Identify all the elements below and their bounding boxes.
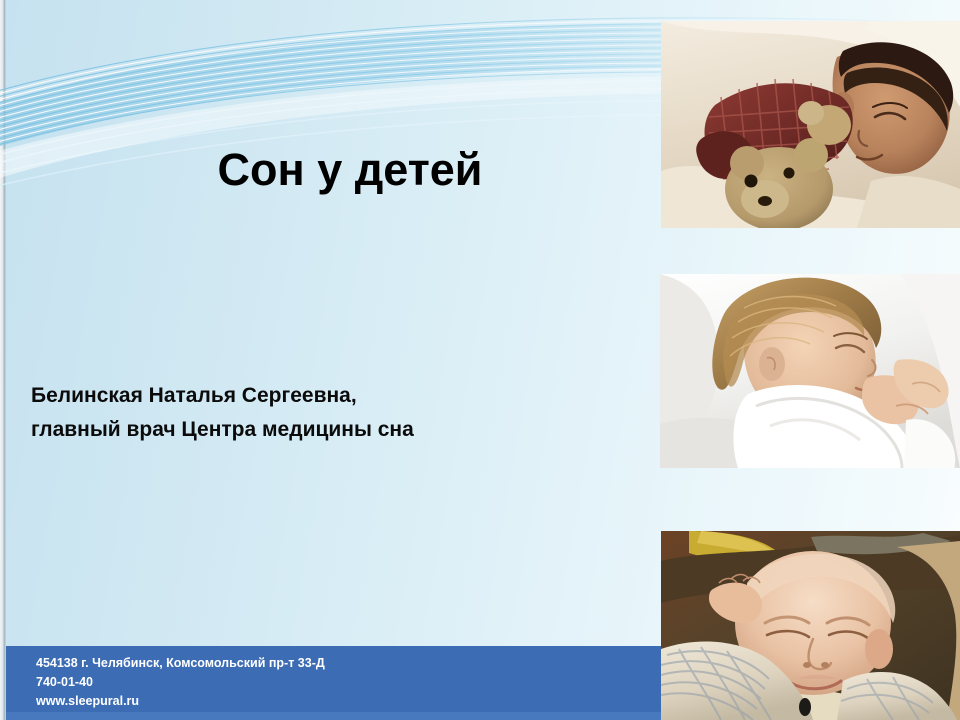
footer-address: 454138 г. Челябинск, Комсомольский пр-т … — [36, 654, 325, 673]
photo-sleeping-child-white-shirt — [660, 274, 960, 468]
footer-contact-block: 454138 г. Челябинск, Комсомольский пр-т … — [36, 654, 325, 711]
footer-website[interactable]: www.sleepural.ru — [36, 692, 325, 711]
footer-phone: 740-01-40 — [36, 673, 325, 692]
slide-left-edge-strip — [0, 0, 6, 720]
photo-sleeping-newborn-baby — [661, 531, 960, 720]
subtitle-line-2: главный врач Центра медицины сна — [31, 413, 631, 447]
subtitle-line-1: Белинская Наталья Сергеевна, — [31, 379, 631, 413]
slide-title: Сон у детей — [60, 144, 640, 196]
photo-sleeping-boy-with-teddy-bear — [661, 21, 960, 228]
presentation-slide: Сон у детей Белинская Наталья Сергеевна,… — [0, 0, 960, 720]
slide-subtitle: Белинская Наталья Сергеевна, главный вра… — [31, 379, 631, 447]
